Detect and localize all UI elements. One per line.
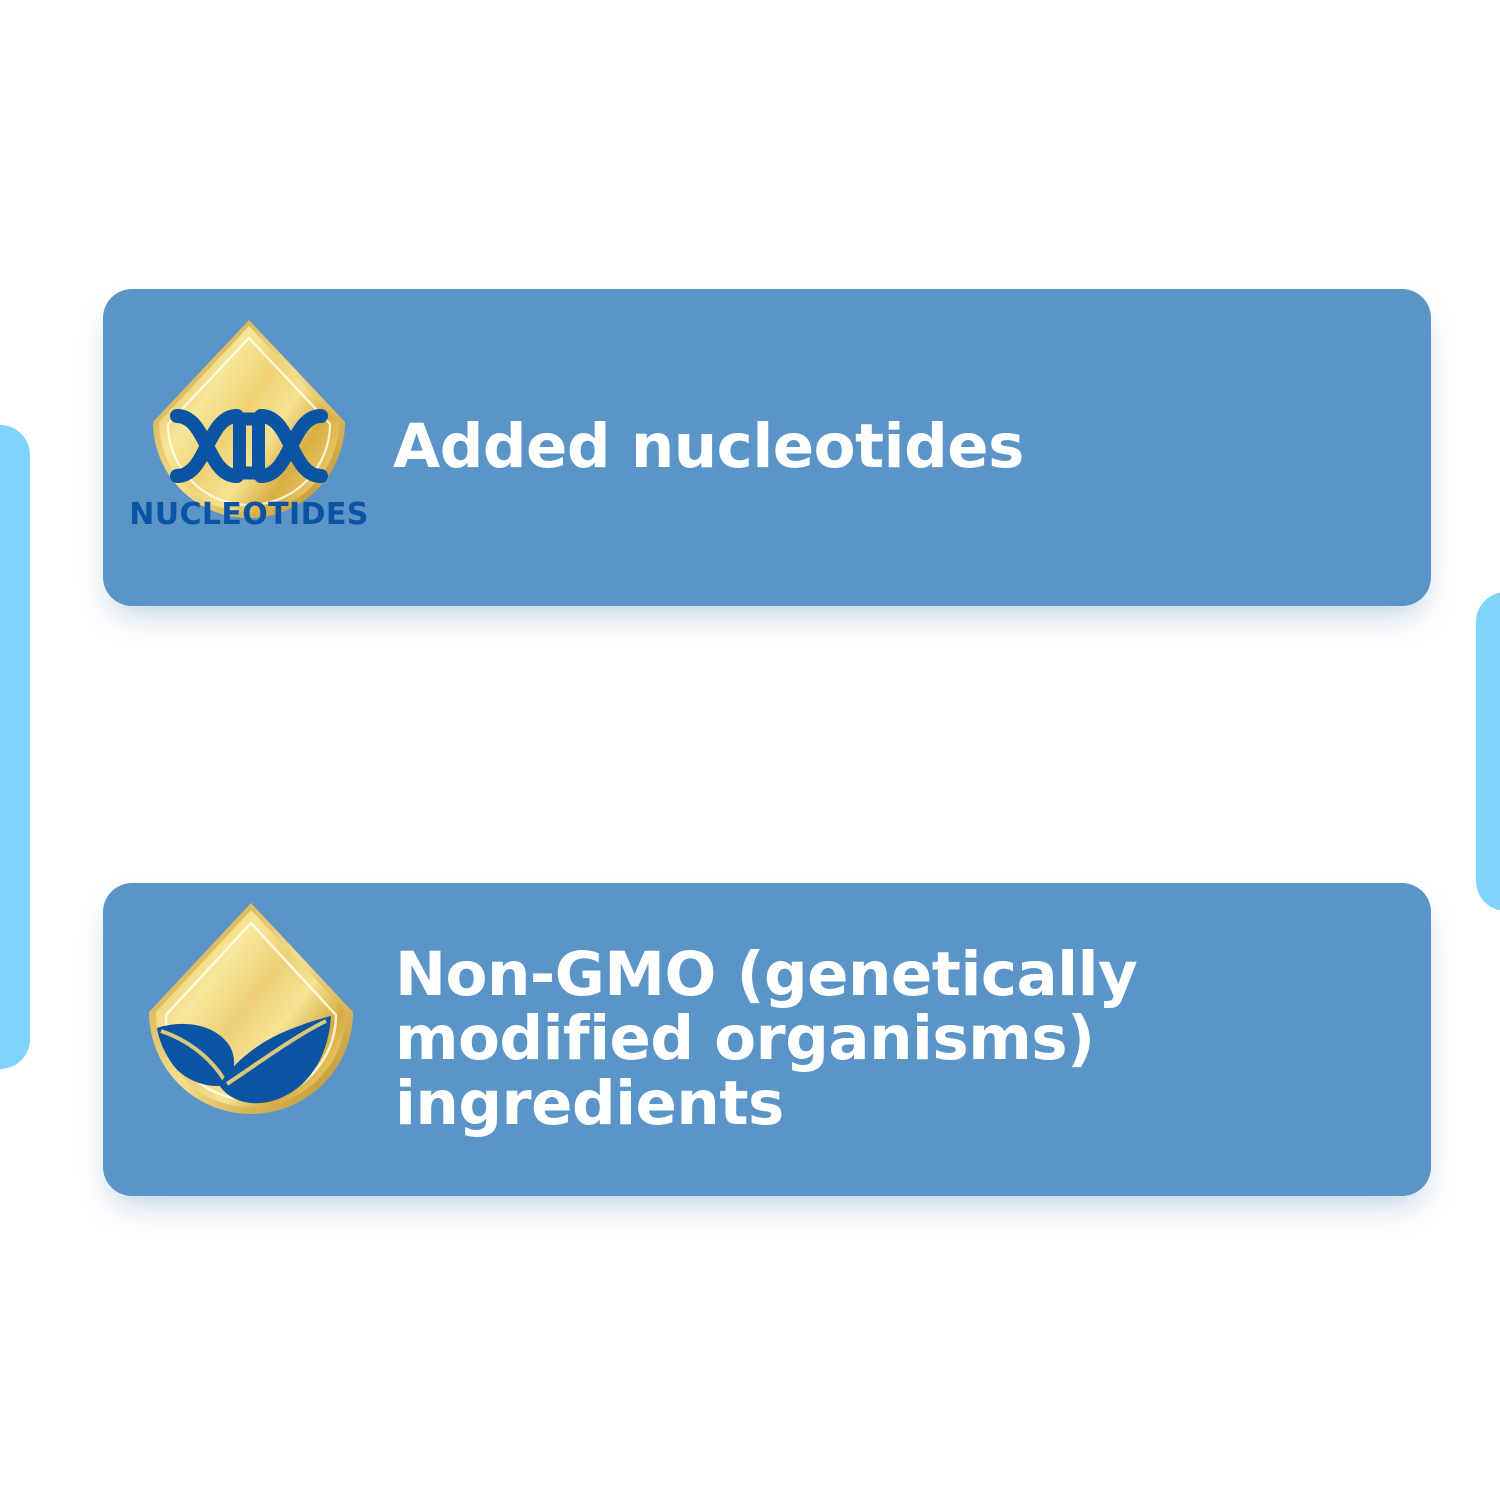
partial-card-right[interactable] <box>1476 592 1500 911</box>
badge-caption: NUCLEOTIDES <box>129 497 369 532</box>
card-label-non-gmo: Non-GMO (genetically modified organisms)… <box>395 943 1395 1137</box>
partial-card-left[interactable] <box>0 425 30 1069</box>
two-leaves-icon <box>123 899 379 1181</box>
dna-double-helix-icon: NUCLEOTIDES <box>129 316 369 580</box>
non-gmo-badge <box>123 899 379 1181</box>
card-label-nucleotides: Added nucleotides <box>393 415 1024 480</box>
nucleotides-badge: NUCLEOTIDES <box>129 316 369 580</box>
feature-card-non-gmo[interactable]: Non-GMO (genetically modified organisms)… <box>103 883 1431 1196</box>
feature-card-nucleotides[interactable]: NUCLEOTIDES Added nucleotides <box>103 289 1431 606</box>
